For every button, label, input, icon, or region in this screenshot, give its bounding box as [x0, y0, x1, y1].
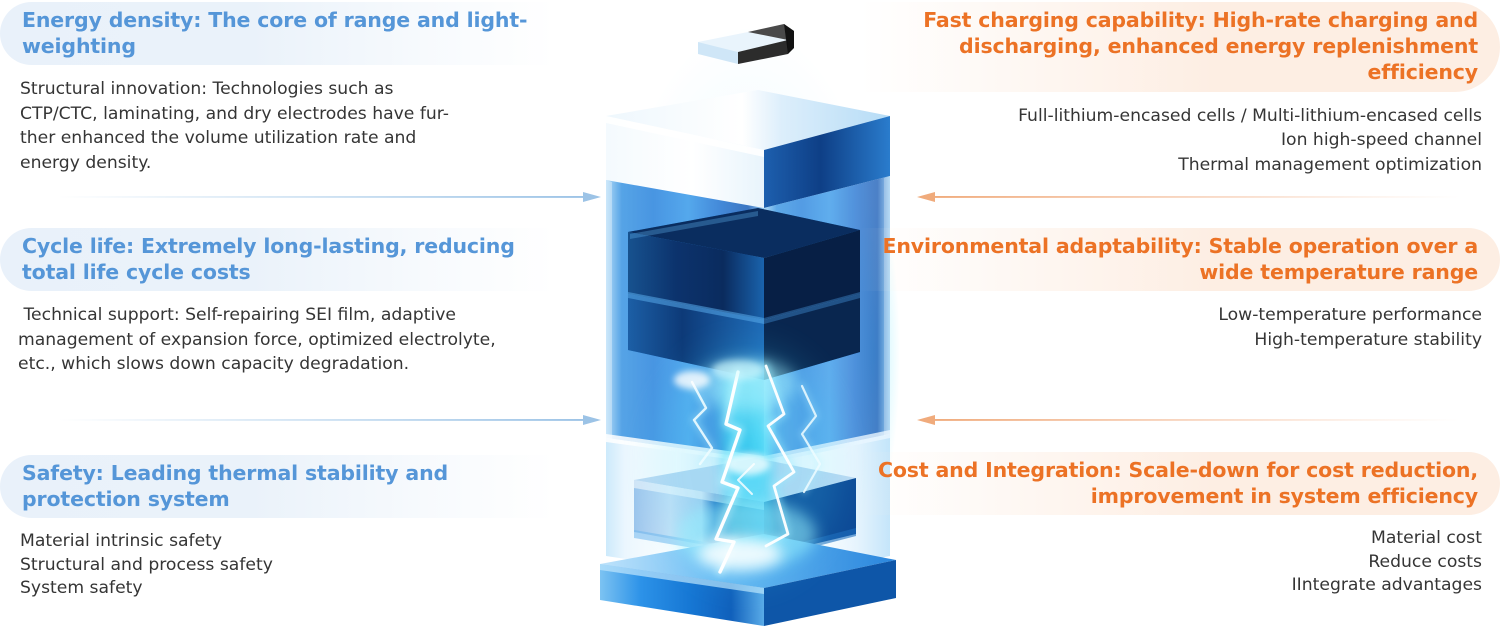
body-line: Structural innovation: Technologies such… — [20, 77, 566, 101]
body-line: Low-temperature performance — [860, 303, 1482, 327]
body-line: IIntegrate advantages — [860, 574, 1482, 597]
body-line: Technical support: Self-repairing SEI fi… — [18, 303, 566, 327]
right-block-fast-charging: Fast charging capability: High-rate char… — [860, 2, 1500, 177]
left-heading-energy-density: Energy density: The core of range and li… — [0, 2, 555, 65]
body-line: Structural and process safety — [20, 554, 566, 577]
arrow-right-1 — [915, 190, 1460, 204]
left-block-energy-density: Energy density: The core of range and li… — [0, 2, 566, 175]
heading-text: Fast charging capability: High-rate char… — [874, 7, 1478, 86]
right-heading-cost-and-integration: Cost and Integration: Scale-down for cos… — [860, 452, 1500, 515]
right-block-cost-and-integration: Cost and Integration: Scale-down for cos… — [860, 452, 1500, 598]
battery-illustration — [588, 0, 908, 638]
body-line: High-temperature stability — [860, 328, 1482, 352]
body-line: management of expansion force, optimized… — [18, 328, 566, 352]
body-line: ther enhanced the volume utilization rat… — [20, 126, 566, 150]
body-line: Thermal management optimization — [860, 153, 1482, 177]
left-body-energy-density: Structural innovation: Technologies such… — [0, 65, 566, 175]
right-body-fast-charging: Full-lithium-encased cells / Multi-lithi… — [860, 92, 1500, 177]
left-block-safety: Safety: Leading thermal stability and pr… — [0, 455, 566, 601]
right-block-environmental-adaptability: Environmental adaptability: Stable opera… — [860, 228, 1500, 352]
left-heading-cycle-life: Cycle life: Extremely long-lasting, redu… — [0, 228, 555, 291]
body-line: Ion high-speed channel — [860, 128, 1482, 152]
body-line: Reduce costs — [860, 551, 1482, 574]
body-line: etc., which slows down capacity degradat… — [18, 352, 566, 376]
left-block-cycle-life: Cycle life: Extremely long-lasting, redu… — [0, 228, 566, 377]
body-line: Material cost — [860, 527, 1482, 550]
heading-text: Cycle life: Extremely long-lasting, redu… — [22, 233, 541, 285]
right-heading-fast-charging: Fast charging capability: High-rate char… — [860, 2, 1500, 92]
body-line: Material intrinsic safety — [20, 530, 566, 553]
left-body-safety: Material intrinsic safety Structural and… — [0, 518, 566, 600]
body-line: System safety — [20, 577, 566, 600]
heading-text: Cost and Integration: Scale-down for cos… — [874, 457, 1478, 509]
body-line: Full-lithium-encased cells / Multi-lithi… — [860, 104, 1482, 128]
left-heading-safety: Safety: Leading thermal stability and pr… — [0, 455, 555, 518]
right-body-environmental-adaptability: Low-temperature performance High-tempera… — [860, 291, 1500, 352]
arrow-right-2 — [915, 413, 1460, 427]
heading-text: Environmental adaptability: Stable opera… — [874, 233, 1478, 285]
arrow-left-2 — [58, 413, 601, 427]
arrow-left-1 — [58, 190, 601, 204]
right-body-cost-and-integration: Material cost Reduce costs IIntegrate ad… — [860, 515, 1500, 597]
heading-text: Safety: Leading thermal stability and pr… — [22, 460, 541, 512]
left-body-cycle-life: Technical support: Self-repairing SEI fi… — [0, 291, 566, 376]
body-line: energy density. — [20, 151, 566, 175]
body-line: CTP/CTC, laminating, and dry electrodes … — [20, 102, 566, 126]
heading-text: Energy density: The core of range and li… — [22, 7, 541, 59]
right-heading-environmental-adaptability: Environmental adaptability: Stable opera… — [860, 228, 1500, 291]
